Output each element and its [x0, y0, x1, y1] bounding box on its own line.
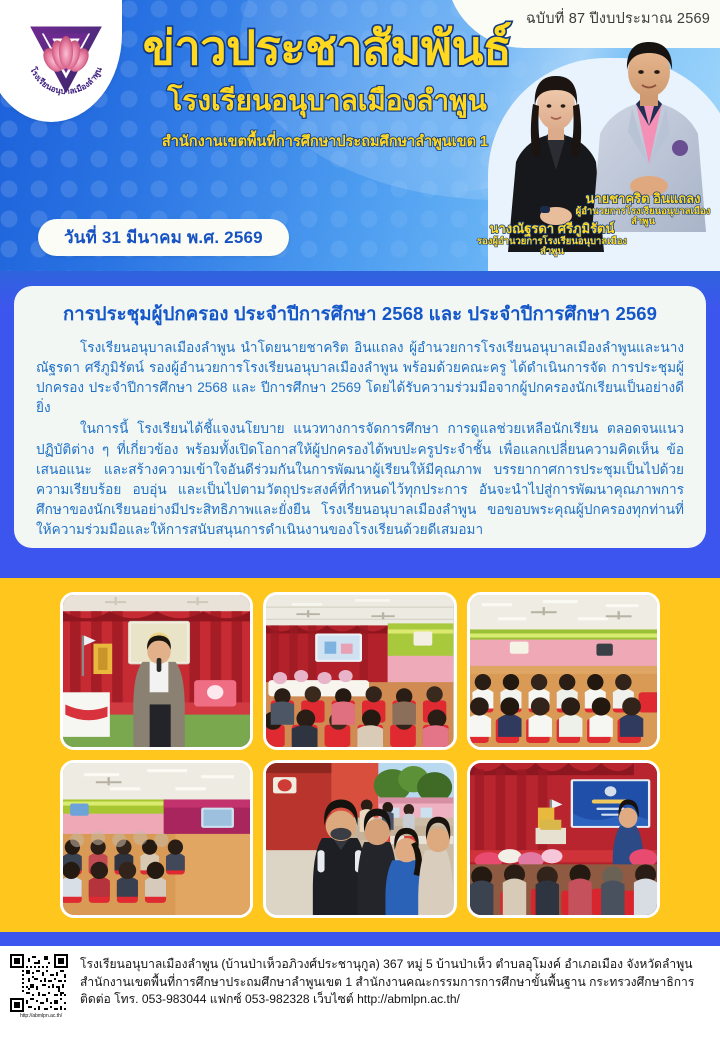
content-paragraph-2: ในการนี้ โรงเรียนได้ชี้แจงนโยบาย แนวทางก… — [36, 419, 684, 540]
gallery-photo-6[interactable] — [467, 760, 660, 918]
footer-line-2: สำนักงานเขตพื้นที่การศึกษาประถมศึกษาลำพู… — [80, 974, 708, 992]
footer-line-3: ติดต่อ โทร. 053-983044 แฟกซ์ 053-982328 … — [80, 991, 708, 1009]
page-title: ข่าวประชาสัมพันธ์ — [112, 24, 542, 71]
gallery-photo-2[interactable] — [263, 592, 456, 750]
director-name: นายชาคริต อินแถลง — [568, 192, 718, 207]
gallery-photo-3[interactable] — [467, 592, 660, 750]
footer-address-block: โรงเรียนอนุบาลเมืองลำพูน (บ้านป่าเห็วอภิ… — [72, 954, 708, 1009]
gallery-top-bar — [0, 564, 720, 578]
poster-header: โรงเรียนอนุบาลเมืองลำพูน ฉบับที่ 87 ปีงบ… — [0, 0, 720, 272]
content-headline: การประชุมผู้ปกครอง ประจำปีการศึกษา 2568 … — [36, 300, 684, 329]
date-text: วันที่ 31 มีนาคม พ.ศ. 2569 — [64, 224, 263, 251]
content-band: การประชุมผู้ปกครอง ประจำปีการศึกษา 2568 … — [0, 272, 720, 564]
date-badge: วันที่ 31 มีนาคม พ.ศ. 2569 — [38, 219, 289, 256]
gallery-photo-5[interactable] — [263, 760, 456, 918]
content-paragraph-1: โรงเรียนอนุบาลเมืองลำพูน นำโดยนายชาคริต … — [36, 338, 684, 418]
gallery-bottom-bar — [0, 932, 720, 946]
photo-gallery — [0, 578, 720, 932]
deputy-role: รองผู้อำนวยการโรงเรียนอนุบาลเมืองลำพูน — [472, 237, 632, 258]
school-name-title: โรงเรียนอนุบาลเมืองลำพูน — [112, 86, 542, 115]
content-card: การประชุมผู้ปกครอง ประจำปีการศึกษา 2568 … — [14, 286, 706, 548]
nameplate-deputy-director: นางณัฐรดา ศรีภูมิรัตน์ รองผู้อำนวยการโรง… — [472, 222, 632, 258]
qr-column: http://abmlpn.ac.th/ — [10, 954, 72, 1019]
qr-code-icon[interactable] — [10, 954, 68, 1012]
office-subtitle: สำนักงานเขตพื้นที่การศึกษาประถมศึกษาลำพู… — [100, 130, 550, 153]
school-logo: โรงเรียนอนุบาลเมืองลำพูน — [18, 8, 114, 108]
poster-footer: http://abmlpn.ac.th/ โรงเรียนอนุบาลเมือง… — [0, 946, 720, 1026]
gallery-photo-4[interactable] — [60, 760, 253, 918]
newsletter-poster: โรงเรียนอนุบาลเมืองลำพูน ฉบับที่ 87 ปีงบ… — [0, 0, 720, 1040]
footer-line-1: โรงเรียนอนุบาลเมืองลำพูน (บ้านป่าเห็วอภิ… — [80, 956, 708, 974]
deputy-name: นางณัฐรดา ศรีภูมิรัตน์ — [472, 222, 632, 237]
qr-code-url: http://abmlpn.ac.th/ — [10, 1013, 72, 1019]
photo-grid — [60, 592, 660, 918]
gallery-photo-1[interactable] — [60, 592, 253, 750]
